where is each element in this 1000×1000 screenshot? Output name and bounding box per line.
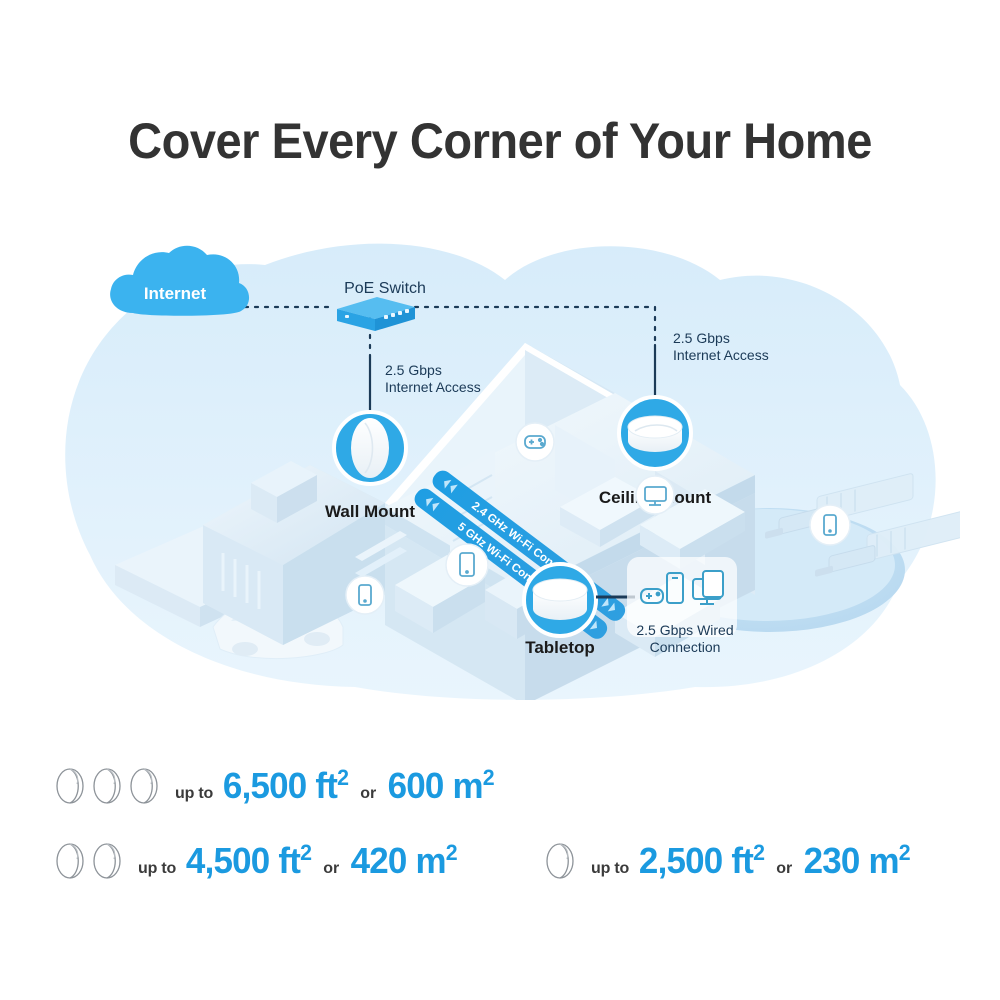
internet-cloud-node: Internet	[110, 246, 249, 316]
coverage-summary: up to 6,500 ft2 or 600 m2 up to 4,500 ft…	[0, 765, 1000, 925]
client-badge-tablet-indoor	[446, 544, 488, 586]
internet-label: Internet	[144, 284, 207, 303]
wall-mount-callout-line1: 2.5 Gbps	[385, 362, 442, 378]
ceiling-mount-callout-line2: Internet Access	[673, 347, 769, 363]
ceiling-mount-callout-line1: 2.5 Gbps	[673, 330, 730, 346]
coverage-conjunction: or	[776, 860, 792, 878]
ap-unit-icon	[92, 841, 126, 881]
unit-icon-group	[55, 766, 163, 806]
wired-callout-line1: 2.5 Gbps Wired	[636, 622, 733, 638]
coverage-metric: 230 m2	[804, 840, 910, 882]
unit-icon-group	[545, 841, 579, 881]
client-badge-gamepad	[516, 423, 554, 461]
coverage-row-3-pack: up to 6,500 ft2 or 600 m2	[55, 765, 504, 807]
coverage-metric: 600 m2	[388, 765, 494, 807]
wall-mount-callout-line2: Internet Access	[385, 379, 481, 395]
wall-mount-label: Wall Mount	[325, 502, 415, 521]
tablet-icon	[703, 571, 723, 597]
client-badge-phone-indoor	[346, 576, 384, 614]
ap-unit-icon	[92, 766, 126, 806]
coverage-imperial: 4,500 ft2	[186, 840, 311, 882]
coverage-row-1-pack: up to 2,500 ft2 or 230 m2	[545, 840, 920, 882]
tabletop-label: Tabletop	[525, 638, 595, 657]
coverage-prefix: up to	[175, 785, 213, 803]
coverage-prefix: up to	[138, 860, 176, 878]
ap-unit-icon	[55, 841, 89, 881]
coverage-imperial: 6,500 ft2	[223, 765, 348, 807]
ap-unit-icon	[129, 766, 163, 806]
ap-unit-icon	[545, 841, 579, 881]
coverage-prefix: up to	[591, 860, 629, 878]
home-coverage-diagram: Internet PoE Switch 2.4 GHz Wi-Fi Connec…	[55, 235, 960, 700]
coverage-imperial: 2,500 ft2	[639, 840, 764, 882]
coverage-metric: 420 m2	[351, 840, 457, 882]
client-badge-monitor	[636, 476, 674, 514]
ap-unit-icon	[55, 766, 89, 806]
coverage-conjunction: or	[323, 860, 339, 878]
tabletop-node: Tabletop	[524, 564, 596, 657]
wired-callout-line2: Connection	[650, 639, 721, 655]
coverage-conjunction: or	[360, 785, 376, 803]
client-badge-phone-outdoor	[810, 505, 850, 545]
unit-icon-group	[55, 841, 126, 881]
poe-switch-label: PoE Switch	[344, 280, 426, 297]
page-title: Cover Every Corner of Your Home	[30, 112, 970, 170]
coverage-row-2-pack: up to 4,500 ft2 or 420 m2	[55, 840, 467, 882]
